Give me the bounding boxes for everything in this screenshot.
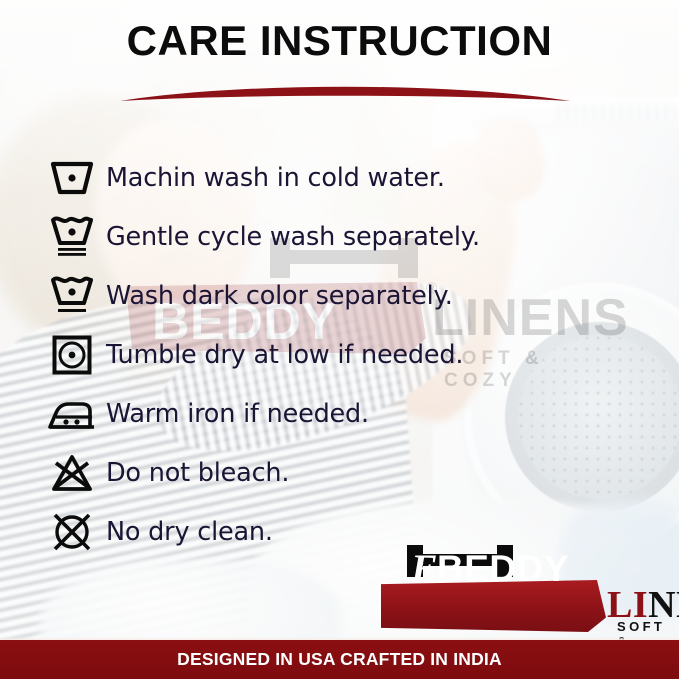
- care-row: Do not bleach.: [38, 443, 638, 502]
- care-item-label: Gentle cycle wash separately.: [106, 222, 480, 252]
- care-item-label: Machin wash in cold water.: [106, 163, 445, 193]
- machine-wash-cold-icon: [38, 161, 106, 195]
- no-dry-clean-icon: [38, 511, 106, 553]
- page-title: CARE INSTRUCTION: [0, 18, 679, 64]
- care-row: Gentle cycle wash separately.: [38, 207, 638, 266]
- footer-text: DESIGNED IN USA CRAFTED IN INDIA: [177, 649, 502, 670]
- care-row: Tumble dry at low if needed.: [38, 325, 638, 384]
- warm-iron-icon: [38, 398, 106, 430]
- logo-beddy-text: BEDDY: [437, 548, 569, 590]
- care-item-label: Warm iron if needed.: [106, 399, 369, 429]
- title-underline-swoosh: [120, 84, 570, 104]
- brand-logo[interactable]: E BEDDY LINENS ® SOFT & COZY: [395, 543, 675, 639]
- care-row: Wash dark color separately.: [38, 266, 638, 325]
- care-row: Warm iron if needed.: [38, 384, 638, 443]
- care-instruction-list: Machin wash in cold water. Gentle cycle …: [38, 148, 638, 561]
- footer-bar: DESIGNED IN USA CRAFTED IN INDIA: [0, 640, 679, 679]
- tumble-dry-low-icon: [38, 335, 106, 375]
- care-row: Machin wash in cold water.: [38, 148, 638, 207]
- care-item-label: Do not bleach.: [106, 458, 289, 488]
- care-item-label: Tumble dry at low if needed.: [106, 340, 463, 370]
- gentle-cycle-wash-icon: [38, 216, 106, 258]
- do-not-bleach-icon: [38, 454, 106, 492]
- wash-dark-color-icon: [38, 276, 106, 316]
- title-block: CARE INSTRUCTION: [0, 18, 679, 64]
- care-item-label: Wash dark color separately.: [106, 281, 453, 311]
- care-item-label: No dry clean.: [106, 517, 273, 547]
- logo-e-mark: E: [411, 545, 438, 592]
- care-instruction-poster: BEDDY ® LINENS SOFT & COZY CARE INSTRUCT…: [0, 0, 679, 679]
